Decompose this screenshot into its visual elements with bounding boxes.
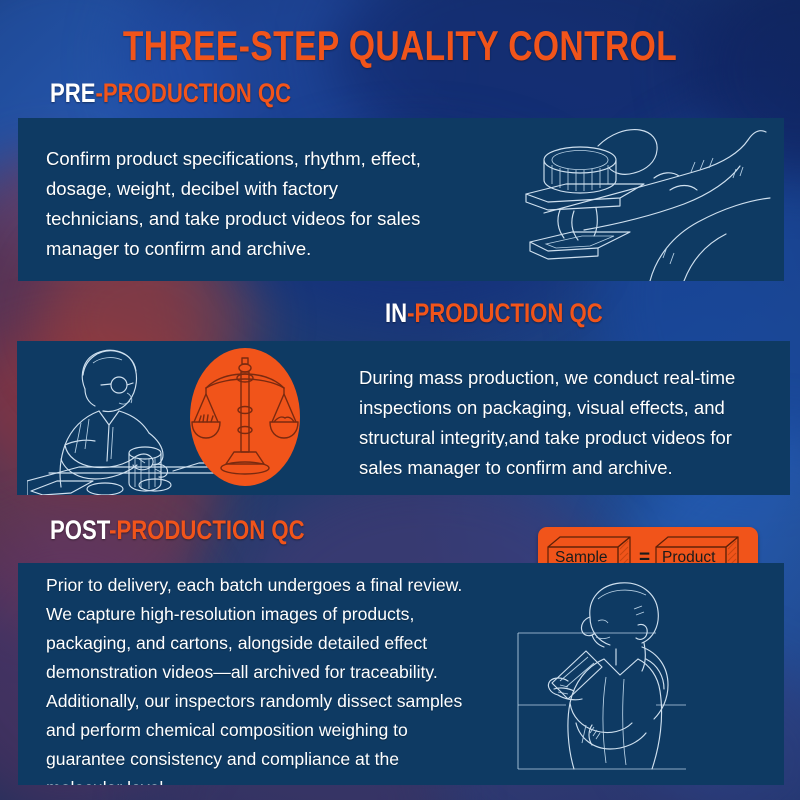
page-title: THREE-STEP QUALITY CONTROL	[80, 22, 720, 70]
heading-white-part: POST	[50, 515, 109, 545]
balance-scale-icon	[190, 348, 300, 486]
section-heading-in-production: IN-PRODUCTION QC	[385, 298, 603, 329]
panel-in-production: During mass production, we conduct real-…	[17, 341, 790, 495]
man-reading-clipboard-icon	[506, 573, 736, 785]
panel-body-text-in-production: During mass production, we conduct real-…	[359, 363, 779, 483]
infographic-canvas: THREE-STEP QUALITY CONTROL PRE-PRODUCTIO…	[0, 0, 800, 800]
heading-orange-part: -PRODUCTION QC	[96, 78, 292, 108]
inspector-at-table-icon	[27, 341, 217, 495]
heading-white-part: IN	[385, 298, 407, 328]
heading-white-part: PRE	[50, 78, 96, 108]
panel-body-text-pre-production: Confirm product specifications, rhythm, …	[46, 144, 476, 264]
panel-pre-production: Confirm product specifications, rhythm, …	[18, 118, 784, 281]
panel-body-text-post-production: Prior to delivery, each batch undergoes …	[46, 571, 551, 785]
section-heading-post-production: POST-PRODUCTION QC	[50, 515, 305, 546]
hand-holding-product-icon	[448, 118, 778, 281]
heading-orange-part: -PRODUCTION QC	[407, 298, 603, 328]
heading-orange-part: -PRODUCTION QC	[109, 515, 305, 545]
panel-post-production: Prior to delivery, each batch undergoes …	[18, 563, 784, 785]
section-heading-pre-production: PRE-PRODUCTION QC	[50, 78, 291, 109]
